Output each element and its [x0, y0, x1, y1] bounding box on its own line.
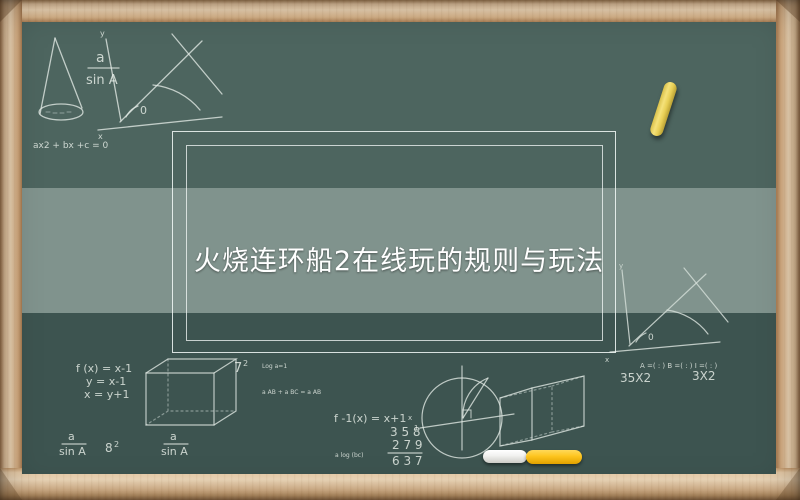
- page-title: 火烧连环船2在线玩的规则与玩法: [22, 239, 776, 278]
- frame-left-rail: [0, 0, 22, 500]
- svg-text:f (x) = x-1: f (x) = x-1: [76, 362, 132, 375]
- svg-text:y = x-1: y = x-1: [86, 375, 126, 388]
- svg-text:8: 8: [105, 441, 113, 455]
- blackboard-banner: a sin A y x 0 ax2 + bx +c = 0: [0, 0, 800, 500]
- svg-text:a: a: [170, 430, 177, 443]
- svg-text:sin A: sin A: [161, 445, 188, 458]
- svg-text:2: 2: [243, 359, 248, 368]
- svg-text:a AB + a BC = a AB: a AB + a BC = a AB: [262, 389, 321, 396]
- svg-text:0: 0: [648, 333, 654, 343]
- svg-text:x: x: [605, 356, 609, 364]
- svg-text:Log a=1: Log a=1: [262, 363, 287, 370]
- svg-text:6 3 7: 6 3 7: [392, 454, 423, 468]
- svg-text:a log (bc): a log (bc): [335, 452, 363, 459]
- svg-text:35X2: 35X2: [620, 371, 651, 385]
- svg-text:3 5 8: 3 5 8: [390, 425, 421, 439]
- svg-text:sin A: sin A: [59, 445, 86, 458]
- svg-text:2: 2: [114, 440, 119, 449]
- white-chalk-stick[interactable]: [483, 450, 527, 463]
- svg-text:x = y+1: x = y+1: [84, 388, 129, 401]
- frame-top-rail: [0, 0, 800, 22]
- frame-miter-top-right: [776, 0, 800, 22]
- svg-text:A =( : ) B =( : ) I =( : ): A =( : ) B =( : ) I =( : ): [640, 362, 717, 370]
- svg-text:a: a: [68, 430, 75, 443]
- frame-right-rail: [776, 0, 800, 500]
- svg-text:3X2: 3X2: [692, 369, 716, 383]
- svg-text:1: 1: [414, 424, 418, 432]
- svg-text:2 7 9: 2 7 9: [392, 438, 423, 452]
- yellow-chalk-stick[interactable]: [526, 450, 582, 464]
- svg-text:7: 7: [234, 361, 242, 376]
- svg-text:f -1(x) = x+1: f -1(x) = x+1: [334, 412, 406, 425]
- frame-miter-bottom-right: [776, 468, 800, 500]
- frame-miter-bottom-left: [0, 468, 22, 500]
- svg-text:x: x: [408, 414, 412, 422]
- frame-miter-top-left: [0, 0, 22, 22]
